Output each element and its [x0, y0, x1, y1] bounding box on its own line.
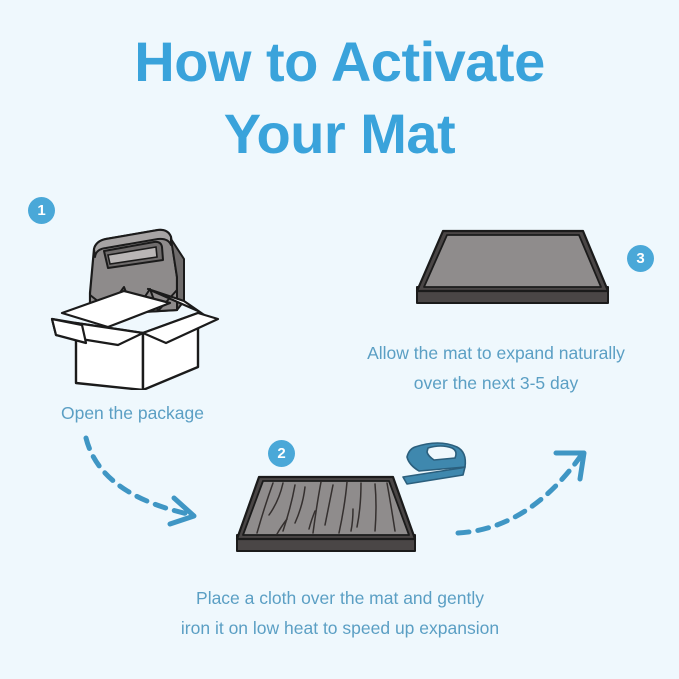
- infographic-canvas: How to Activate Your Mat 1 Open the pack…: [0, 0, 679, 679]
- iron-icon: [395, 437, 471, 495]
- title-line-1: How to Activate: [0, 26, 679, 98]
- flat-mat-icon: [405, 215, 620, 320]
- dashed-arrow-up-right-icon: [452, 445, 602, 545]
- title-line-2: Your Mat: [0, 98, 679, 170]
- dashed-arrow-down-right-icon: [78, 432, 223, 537]
- step-2-caption-line-2: iron it on low heat to speed up expansio…: [90, 613, 590, 643]
- mat-wrinkle-lines: [257, 482, 395, 534]
- step-2-caption: Place a cloth over the mat and gently ir…: [90, 583, 590, 643]
- step-badge-1: 1: [28, 197, 55, 224]
- step-1-caption: Open the package: [0, 398, 265, 428]
- wrinkled-mat-icon: [225, 465, 425, 565]
- step-3-caption-line-1: Allow the mat to expand naturally: [313, 338, 679, 368]
- step-2-caption-line-1: Place a cloth over the mat and gently: [90, 583, 590, 613]
- step-badge-3: 3: [627, 245, 654, 272]
- cardboard-box-icon: [38, 215, 228, 390]
- page-title: How to Activate Your Mat: [0, 26, 679, 170]
- step-3-caption: Allow the mat to expand naturally over t…: [313, 338, 679, 398]
- step-3-caption-line-2: over the next 3-5 day: [313, 368, 679, 398]
- step-1-caption-line-1: Open the package: [0, 398, 265, 428]
- mat-inside-box: [90, 230, 184, 315]
- step-badge-2: 2: [268, 440, 295, 467]
